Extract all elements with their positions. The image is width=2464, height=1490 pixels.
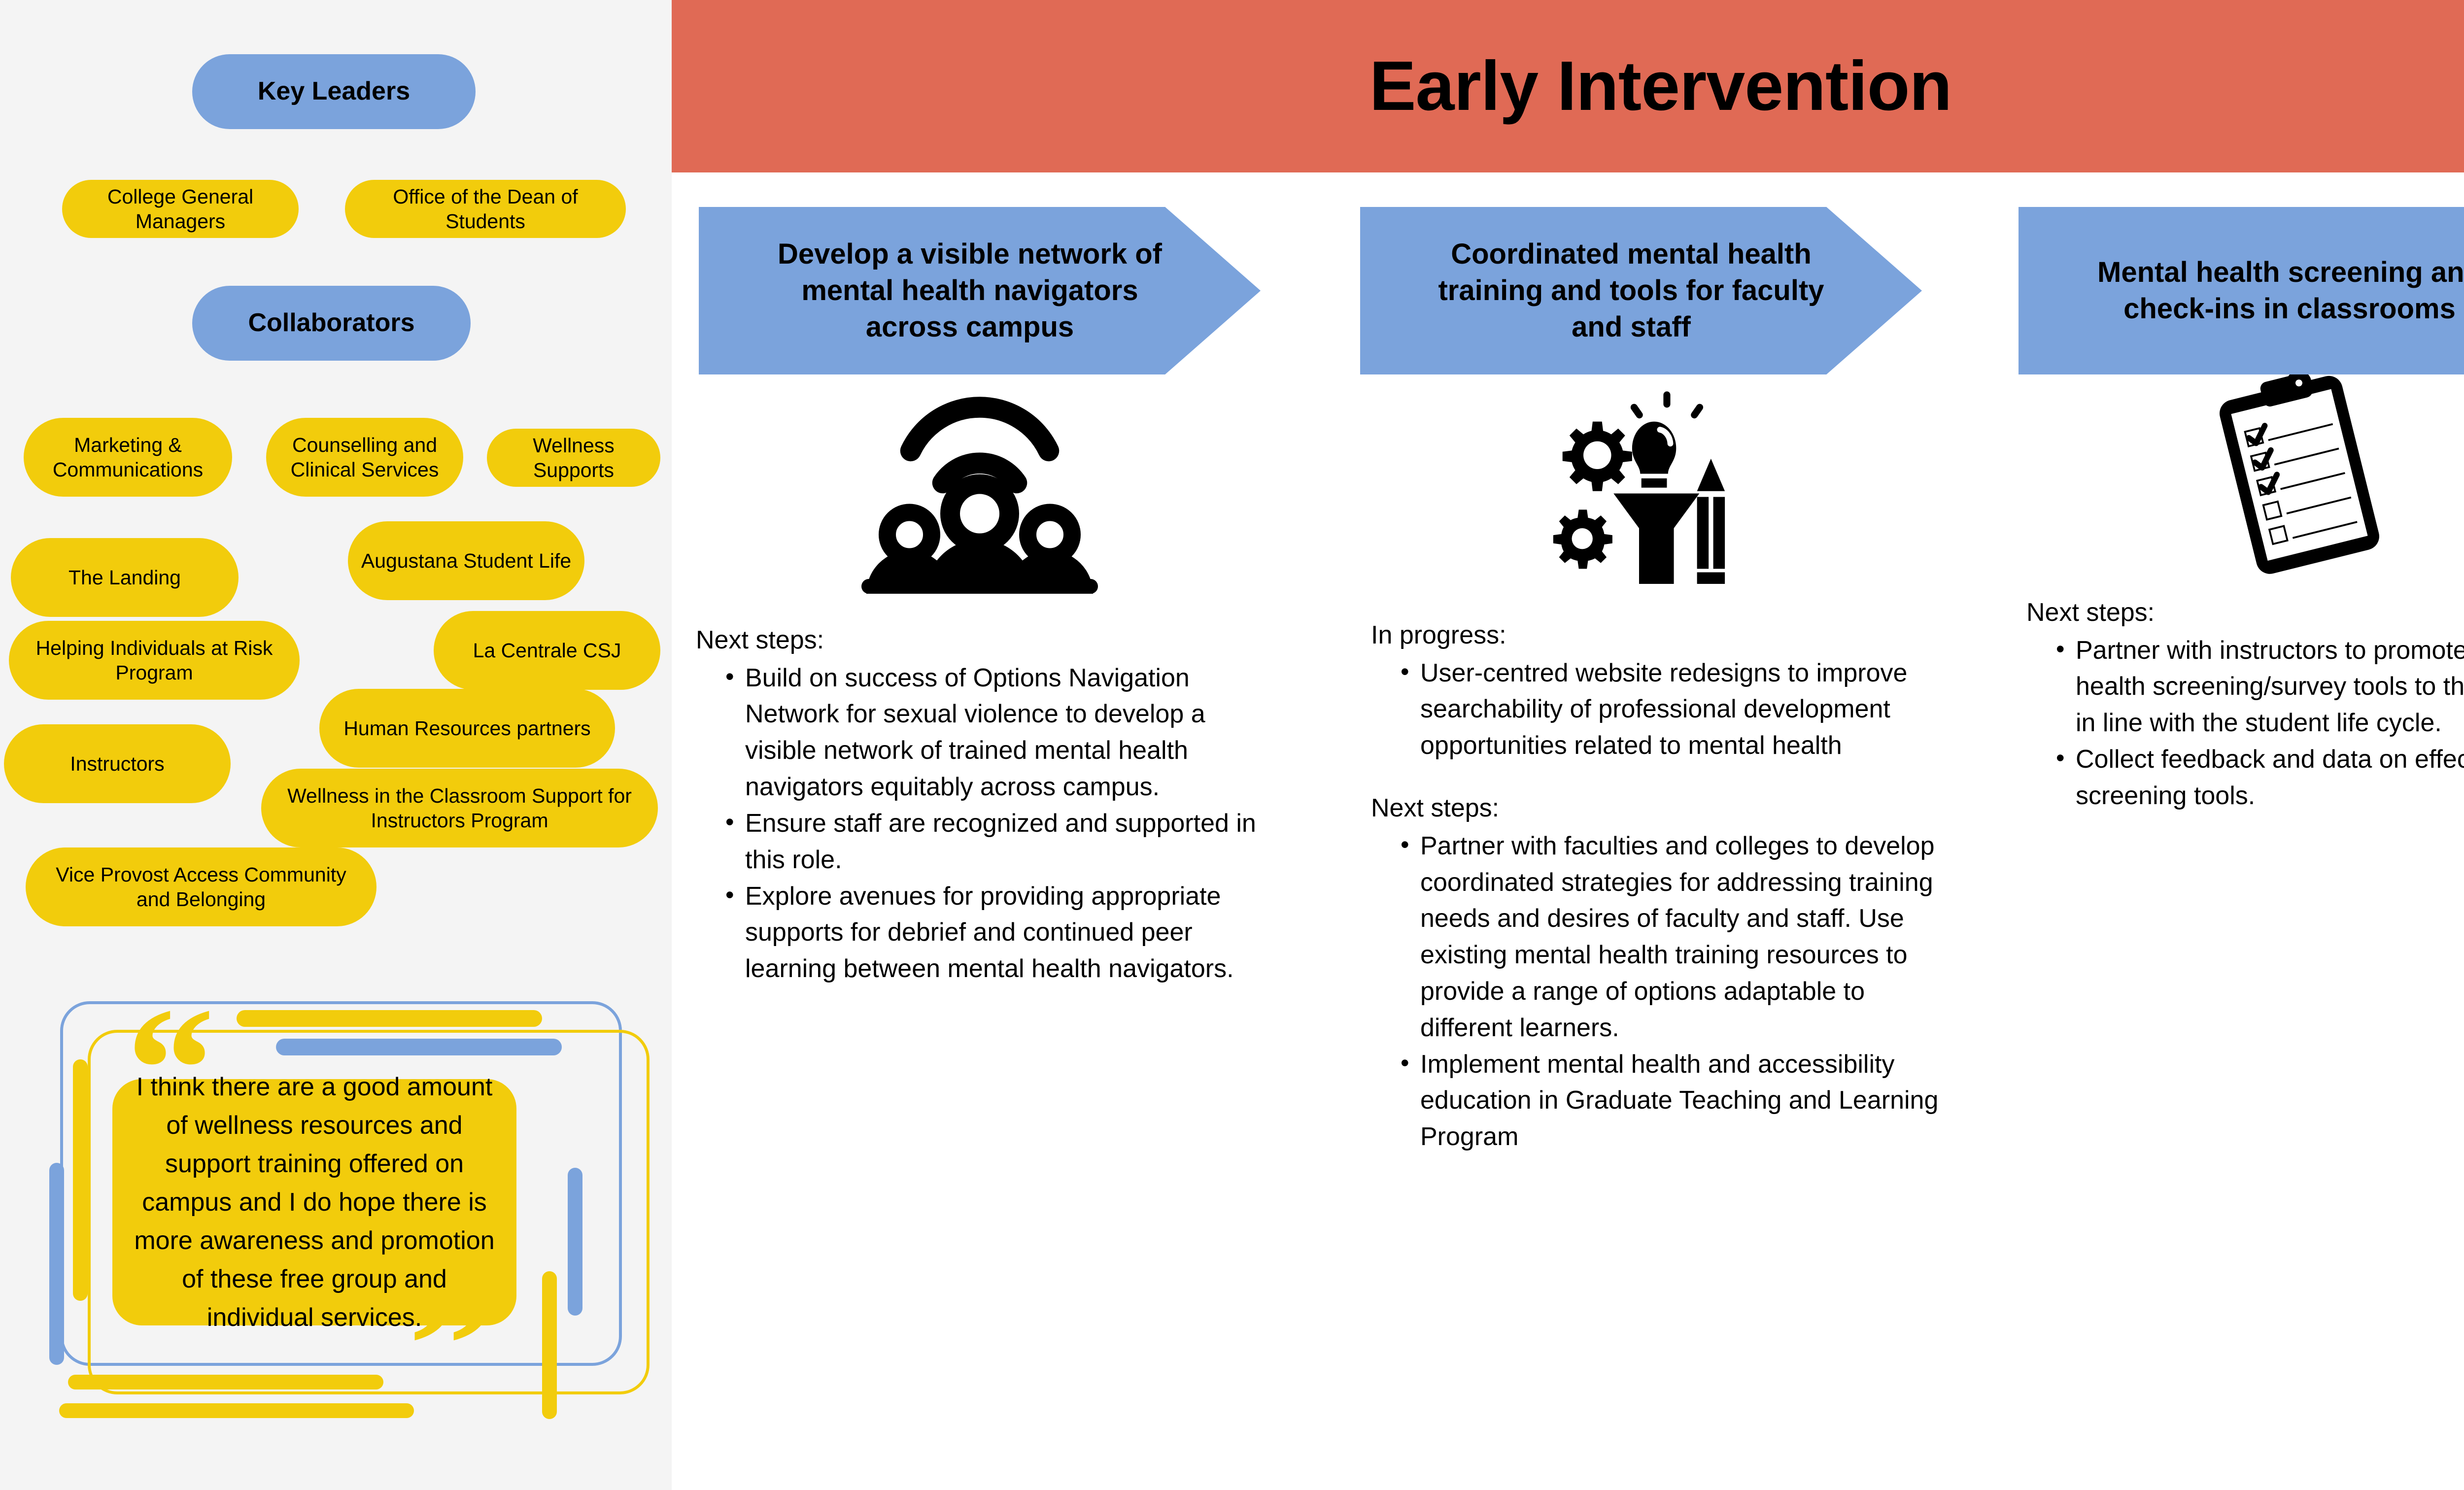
quote-accent-bar-blue-top [276, 1039, 562, 1055]
key-leaders-label: Key Leaders [258, 76, 410, 107]
collaborator-pill-wellness-supports: Wellness Supports [487, 429, 660, 487]
column-coordinated-training: Coordinated mental health training and t… [1358, 207, 2019, 1155]
gears-lightbulb-pencil-icon [1358, 379, 1920, 591]
collaborator-pill-vice-provost-access-community-belonging: Vice Provost Access Community and Belong… [26, 847, 376, 926]
bullet-list: Partner with instructors to promote ment… [2054, 633, 2464, 814]
collaborator-pill-augustana-student-life: Augustana Student Life [348, 521, 584, 600]
section-lead: Next steps: [696, 624, 1282, 657]
list-item: Build on success of Options Navigation N… [723, 660, 1282, 806]
bullet-list: Partner with faculties and colleges to d… [1399, 828, 1957, 1155]
arrow-header-1: Develop a visible network of mental heal… [699, 207, 1261, 374]
key-leader-pill-college-general-managers: College General Managers [62, 180, 299, 238]
section-lead: Next steps: [1371, 792, 1957, 825]
list-item: Explore avenues for providing appropriat… [723, 879, 1282, 987]
quote-card: I think there are a good amount of welln… [112, 1079, 516, 1325]
quote-block: “ ” I think there are a good amount of w… [30, 981, 646, 1424]
arrow-header-3: Mental health screening and check-ins in… [2019, 207, 2464, 374]
key-leader-pill-office-dean-of-students: Office of the Dean of Students [345, 180, 626, 238]
collaborator-pill-la-centrale-csj: La Centrale CSJ [434, 611, 660, 690]
section-gap [1371, 764, 1957, 792]
sidebar-heading-key-leaders: Key Leaders [192, 54, 476, 129]
collaborator-pill-human-resources-partners: Human Resources partners [319, 689, 615, 768]
sidebar-heading-collaborators: Collaborators [192, 286, 471, 361]
list-item: Ensure staff are recognized and supporte… [723, 806, 1282, 879]
section-lead: In progress: [1371, 619, 1957, 652]
page-title: Early Intervention [1369, 46, 1951, 127]
collaborator-pill-marketing-communications: Marketing & Communications [24, 418, 232, 497]
list-item: Collect feedback and data on effectivene… [2054, 742, 2464, 814]
page-header-banner: Early Intervention [672, 0, 2464, 172]
clipboard-checklist-icon [2019, 370, 2464, 581]
column-develop-visible-network: Develop a visible network of mental heal… [699, 207, 1359, 987]
arrow-header-2-label: Coordinated mental health training and t… [1427, 236, 1836, 346]
column-1-body: Next steps: Build on success of Options … [696, 624, 1282, 987]
sidebar: Key Leaders College General Managers Off… [0, 0, 672, 1490]
quote-accent-bar-blue-right [568, 1168, 582, 1316]
column-screening-checkins: Mental health screening and check-ins in… [2019, 207, 2464, 814]
section-lead: Next steps: [2026, 596, 2464, 630]
list-item: Partner with faculties and colleges to d… [1399, 828, 1957, 1047]
arrow-header-1-label: Develop a visible network of mental heal… [765, 236, 1174, 346]
column-2-body: In progress: User-centred website redesi… [1371, 619, 1957, 1155]
quote-text: I think there are a good amount of welln… [134, 1068, 495, 1337]
quote-accent-bar-blue-left [49, 1163, 64, 1365]
collaborator-pill-the-landing: The Landing [11, 538, 239, 617]
list-item: User-centred website redesigns to improv… [1399, 655, 1957, 764]
quote-accent-bar-yellow-top [237, 1010, 542, 1027]
collaborators-label: Collaborators [248, 307, 414, 339]
bullet-list: Build on success of Options Navigation N… [723, 660, 1282, 987]
collaborator-pill-helping-individuals-at-risk-program: Helping Individuals at Risk Program [9, 621, 300, 700]
collaborator-pill-instructors: Instructors [4, 724, 231, 803]
collaborator-pill-wellness-in-the-classroom-support: Wellness in the Classroom Support for In… [261, 769, 658, 847]
quote-accent-bar-yellow-right [542, 1271, 557, 1419]
quote-accent-bar-yellow-bottom-1 [68, 1375, 383, 1389]
people-network-icon [699, 389, 1261, 601]
collaborator-pill-counselling-clinical-services: Counselling and Clinical Services [266, 418, 463, 497]
arrow-header-3-label: Mental health screening and check-ins in… [2085, 254, 2464, 327]
arrow-header-2: Coordinated mental health training and t… [1360, 207, 1922, 374]
list-item: Partner with instructors to promote ment… [2054, 633, 2464, 742]
bullet-list: User-centred website redesigns to improv… [1399, 655, 1957, 764]
list-item: Implement mental health and accessibilit… [1399, 1047, 1957, 1155]
quote-accent-bar-yellow-bottom-2 [59, 1403, 414, 1418]
quote-accent-bar-yellow-left [73, 1059, 88, 1301]
column-3-body: Next steps: Partner with instructors to … [2026, 596, 2464, 814]
main-content: Early Intervention Develop a visible net… [672, 0, 2464, 1490]
